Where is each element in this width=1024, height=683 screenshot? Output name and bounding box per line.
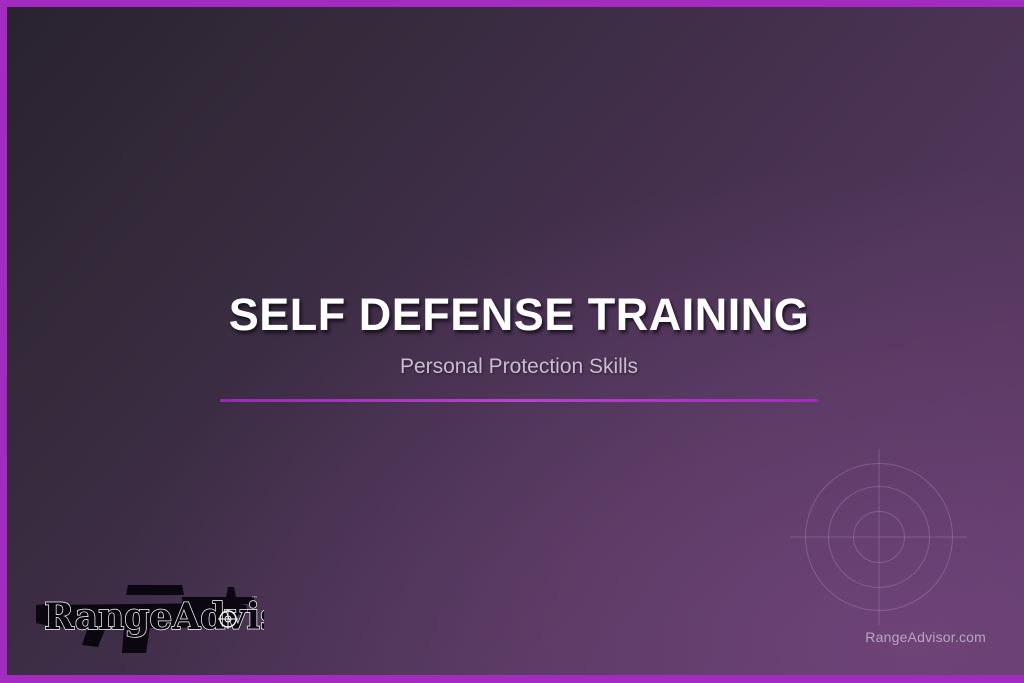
presentation-slide: SELF DEFENSE TRAINING Personal Protectio…	[0, 0, 1024, 683]
title-divider	[220, 399, 818, 402]
logo-wordmark-text: RangeAdvisor	[44, 596, 264, 638]
target-crosshair-icon	[791, 449, 967, 625]
crosshair-horizontal-line	[791, 537, 967, 538]
logo-trademark-symbol: ™	[251, 595, 258, 603]
page-subtitle: Personal Protection Skills	[7, 355, 1024, 379]
footer-website-url: RangeAdvisor.com	[865, 629, 986, 645]
page-title: SELF DEFENSE TRAINING	[7, 289, 1024, 341]
title-block: SELF DEFENSE TRAINING Personal Protectio…	[7, 289, 1024, 402]
svg-text:RangeAdvisor: RangeAdvisor	[44, 596, 264, 638]
crosshair-vertical-line	[879, 449, 880, 625]
target-ring-outer	[805, 463, 953, 611]
target-ring-middle	[828, 486, 930, 588]
brand-logo: RangeAdvisor ™	[32, 575, 264, 655]
slide-content-panel: SELF DEFENSE TRAINING Personal Protectio…	[7, 7, 1024, 675]
target-ring-inner	[853, 511, 905, 563]
